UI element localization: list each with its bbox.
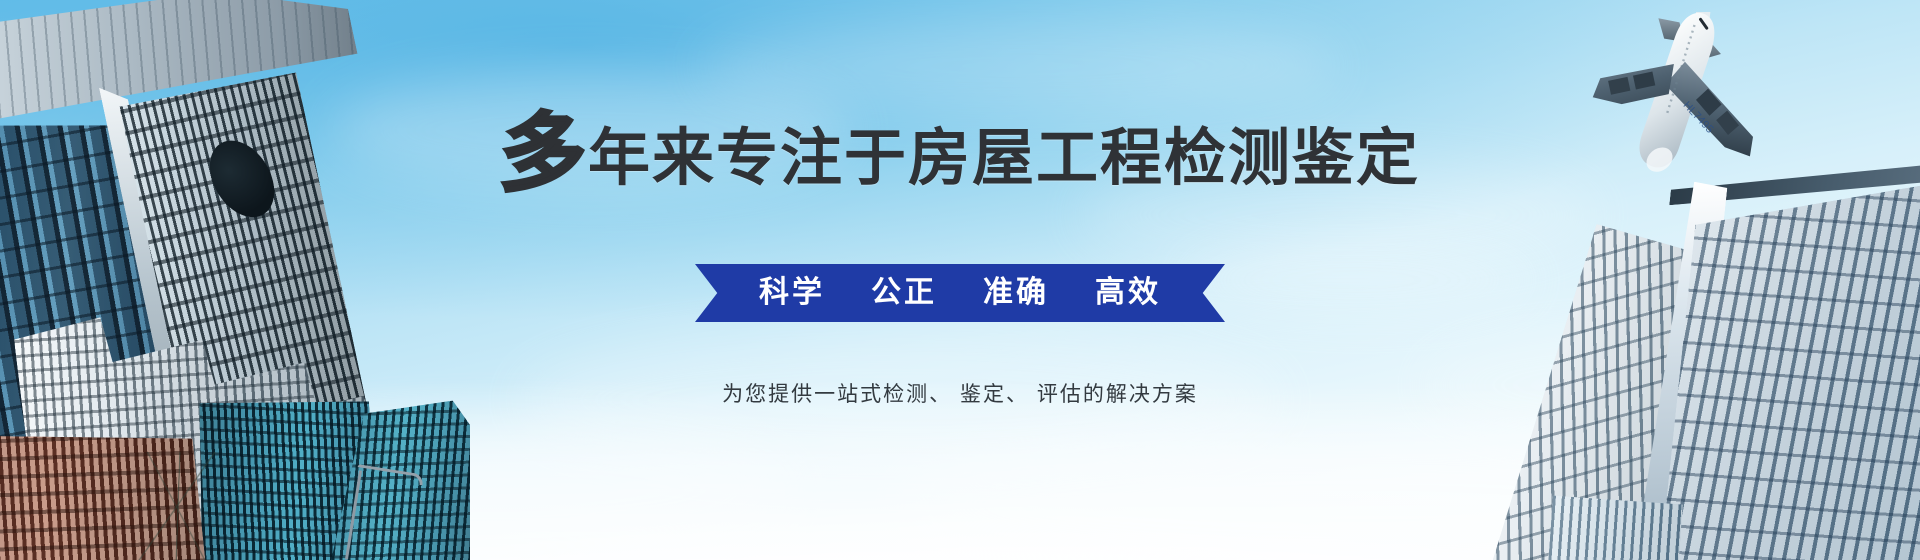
banner-content: 多 年来专注于房屋工程检测鉴定 科学 公正 准确 高效 为您提供一站式检测、 鉴… (0, 0, 1920, 560)
value-ribbon: 科学 公正 准确 高效 (0, 264, 1920, 322)
banner-subtitle: 为您提供一站式检测、 鉴定、 评估的解决方案 (0, 378, 1920, 408)
ribbon-shape: 科学 公正 准确 高效 (695, 264, 1225, 322)
headline-lead-character: 多 (498, 114, 588, 196)
ribbon-item-0: 科学 (759, 278, 825, 308)
ribbon-items: 科学 公正 准确 高效 (741, 278, 1179, 308)
ribbon-item-1: 公正 (871, 278, 937, 308)
banner-headline: 多 年来专注于房屋工程检测鉴定 (0, 108, 1920, 190)
hero-banner: HL7495 多 年来专注于房屋工程检测鉴定 科学 公正 准确 高效 为 (0, 0, 1920, 560)
headline-text: 年来专注于房屋工程检测鉴定 (588, 128, 1420, 190)
ribbon-item-3: 高效 (1095, 278, 1161, 308)
ribbon-item-2: 准确 (983, 278, 1049, 308)
